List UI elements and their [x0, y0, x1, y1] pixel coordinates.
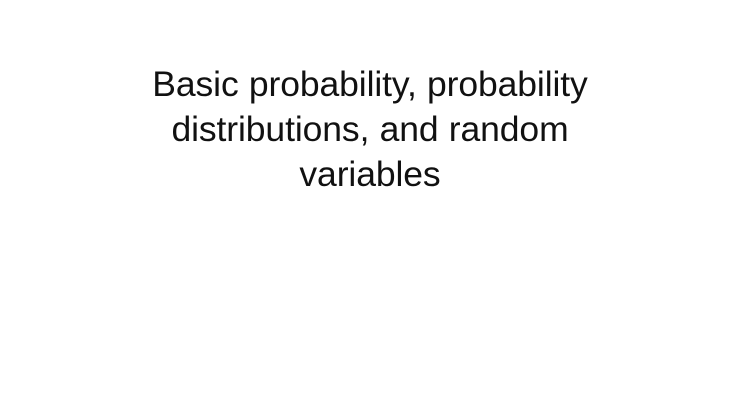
slide-body-placeholder[interactable] [70, 225, 670, 395]
page-title: Basic probability, probability distribut… [70, 62, 670, 197]
slide-title-placeholder[interactable]: Basic probability, probability distribut… [70, 62, 670, 197]
slide-canvas: Basic probability, probability distribut… [0, 0, 739, 416]
